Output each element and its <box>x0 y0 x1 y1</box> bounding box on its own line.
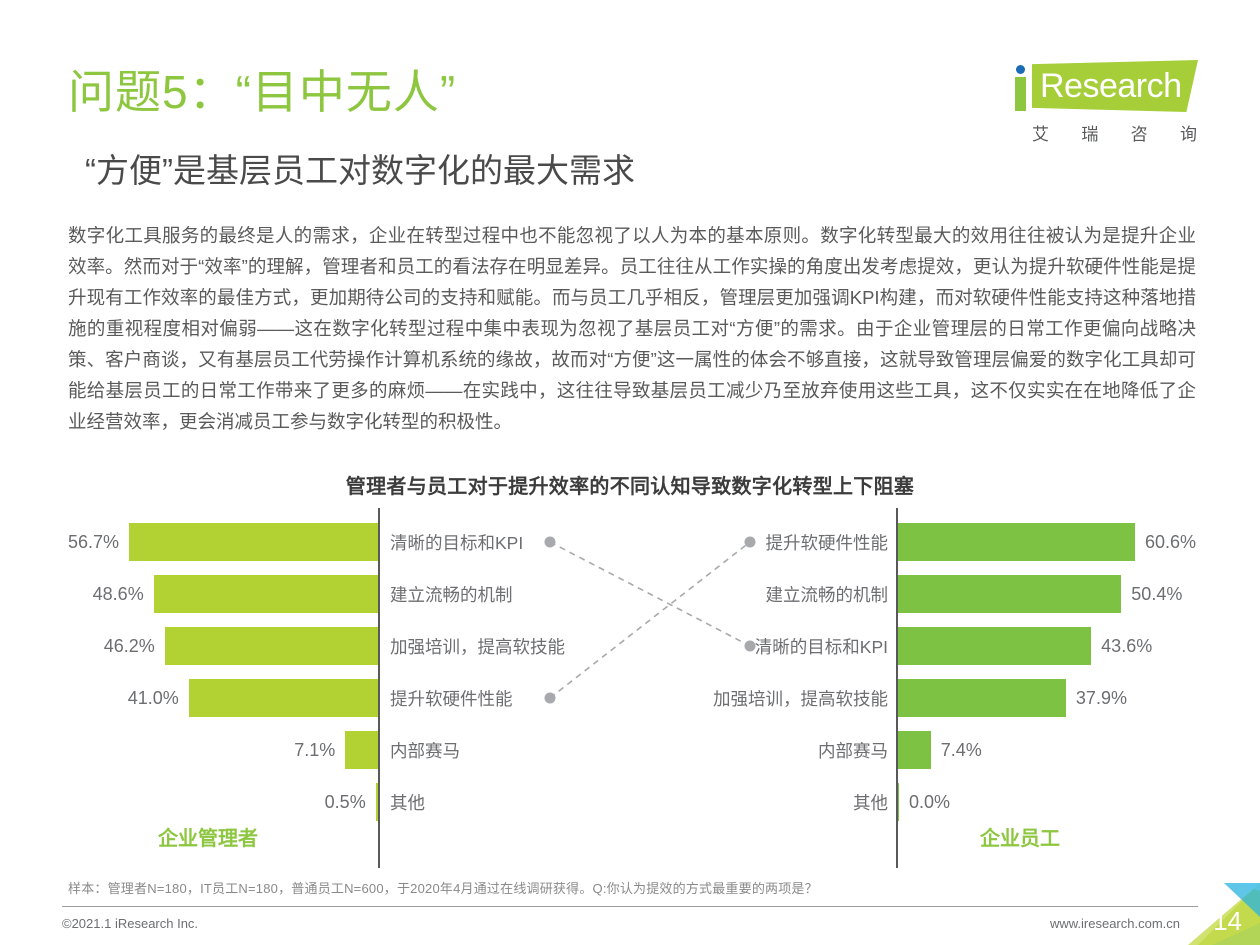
bar-value-label: 0.0% <box>909 792 950 813</box>
table-row: 37.9% <box>898 672 1196 724</box>
bar-left <box>154 575 378 613</box>
category-label-right: 提升软硬件性能 <box>766 516 889 568</box>
left-series-panel: 56.7%48.6%46.2%41.0%7.1%0.5% <box>68 508 378 868</box>
bar-value-label: 0.5% <box>325 792 366 813</box>
table-row: 7.4% <box>898 724 1196 776</box>
bar-value-label: 37.9% <box>1076 688 1127 709</box>
footer-copyright: ©2021.1 iResearch Inc. <box>62 916 198 931</box>
table-row: 60.6% <box>898 516 1196 568</box>
bar-value-label: 43.6% <box>1101 636 1152 657</box>
logo-cn-char-2: 瑞 <box>1081 120 1099 145</box>
bar-value-label: 46.2% <box>104 636 155 657</box>
category-label-right: 内部赛马 <box>818 724 888 776</box>
iresearch-logo: Research 艾 瑞 咨 询 <box>1008 58 1198 150</box>
table-row: 48.6% <box>68 568 378 620</box>
logo-cn-char-1: 艾 <box>1032 120 1050 145</box>
bar-right <box>898 575 1121 613</box>
table-row: 50.4% <box>898 568 1196 620</box>
bar-right <box>898 731 931 769</box>
category-label-left: 清晰的目标和KPI <box>390 516 523 568</box>
connector-dot-1-0 <box>545 693 556 704</box>
logo-mark: Research <box>1008 58 1198 116</box>
slide-page: 问题5：“目中无人” “方便”是基层员工对数字化的最大需求 Research 艾… <box>0 0 1260 945</box>
bar-right <box>898 627 1091 665</box>
logo-wordmark: Research <box>1040 69 1182 103</box>
bar-value-label: 7.1% <box>294 740 335 761</box>
category-label-left: 内部赛马 <box>390 724 460 776</box>
category-label-right: 加强培训，提高软技能 <box>713 672 888 724</box>
category-label-left: 提升软硬件性能 <box>390 672 513 724</box>
left-axis-line <box>378 508 380 868</box>
connector-dot-1-1 <box>745 537 756 548</box>
series-label-managers: 企业管理者 <box>158 822 258 851</box>
table-row: 56.7% <box>68 516 378 568</box>
bar-left <box>165 627 378 665</box>
logo-cn-char-4: 询 <box>1180 120 1198 145</box>
right-series-panel: 60.6%50.4%43.6%37.9%7.4%0.0% <box>898 508 1196 868</box>
bar-value-label: 60.6% <box>1145 532 1196 553</box>
logo-cn-char-3: 咨 <box>1131 120 1149 145</box>
bar-value-label: 41.0% <box>128 688 179 709</box>
category-label-right: 清晰的目标和KPI <box>755 620 888 672</box>
bar-value-label: 50.4% <box>1131 584 1182 605</box>
connector-dot-0-0 <box>545 537 556 548</box>
connector-line-0 <box>550 542 750 646</box>
chart-footnote: 样本：管理者N=180，IT员工N=180，普通员工N=600，于2020年4月… <box>68 878 818 897</box>
category-label-right: 建立流畅的机制 <box>766 568 889 620</box>
logo-dot-icon <box>1016 65 1025 74</box>
page-title: 问题5：“目中无人” <box>68 62 456 122</box>
category-label-right: 其他 <box>853 776 888 828</box>
bar-right <box>898 783 899 821</box>
table-row: 0.5% <box>68 776 378 828</box>
page-number: 14 <box>1213 906 1242 937</box>
bar-left <box>376 783 378 821</box>
bar-value-label: 48.6% <box>93 584 144 605</box>
body-paragraph: 数字化工具服务的最终是人的需求，企业在转型过程中也不能忽视了以人为本的基本原则。… <box>68 220 1196 437</box>
table-row: 7.1% <box>68 724 378 776</box>
footer-divider <box>62 906 1198 907</box>
series-label-employees: 企业员工 <box>980 822 1060 851</box>
bar-value-label: 7.4% <box>941 740 982 761</box>
footer-website[interactable]: www.iresearch.com.cn <box>1050 916 1180 931</box>
category-label-left: 其他 <box>390 776 425 828</box>
bar-value-label: 56.7% <box>68 532 119 553</box>
bar-left <box>189 679 378 717</box>
table-row: 43.6% <box>898 620 1196 672</box>
table-row: 46.2% <box>68 620 378 672</box>
category-label-left: 加强培训，提高软技能 <box>390 620 565 672</box>
table-row: 41.0% <box>68 672 378 724</box>
logo-chinese-name: 艾 瑞 咨 询 <box>1032 120 1198 145</box>
bar-right <box>898 679 1066 717</box>
chart-title: 管理者与员工对于提升效率的不同认知导致数字化转型上下阻塞 <box>0 470 1260 499</box>
table-row: 0.0% <box>898 776 1196 828</box>
category-label-left: 建立流畅的机制 <box>390 568 513 620</box>
bar-right <box>898 523 1135 561</box>
bar-left <box>345 731 378 769</box>
logo-i-stem-icon <box>1015 77 1026 111</box>
bar-left <box>129 523 378 561</box>
page-subtitle: “方便”是基层员工对数字化的最大需求 <box>85 150 635 192</box>
diverging-bar-chart: 56.7%48.6%46.2%41.0%7.1%0.5% 60.6%50.4%4… <box>68 508 1196 868</box>
